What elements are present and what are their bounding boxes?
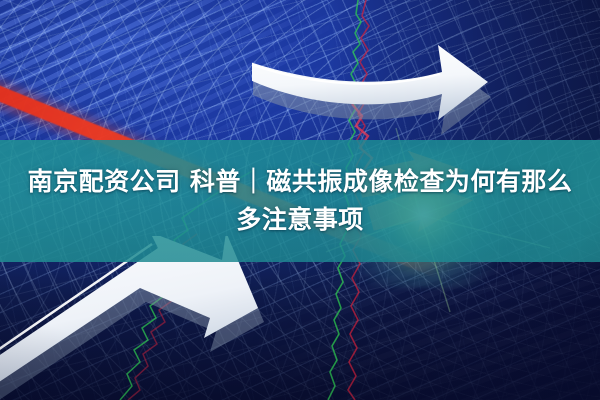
title-line-2: 多注意事项: [236, 204, 364, 236]
page-title: 南京配资公司 科普｜磁共振成像检查为何有那么 多注意事项: [0, 140, 600, 262]
arrow-up-right-icon: [252, 8, 552, 140]
banner-image: 南京配资公司 科普｜磁共振成像检查为何有那么 多注意事项: [0, 0, 600, 400]
title-line-1: 南京配资公司 科普｜磁共振成像检查为何有那么: [28, 166, 573, 198]
